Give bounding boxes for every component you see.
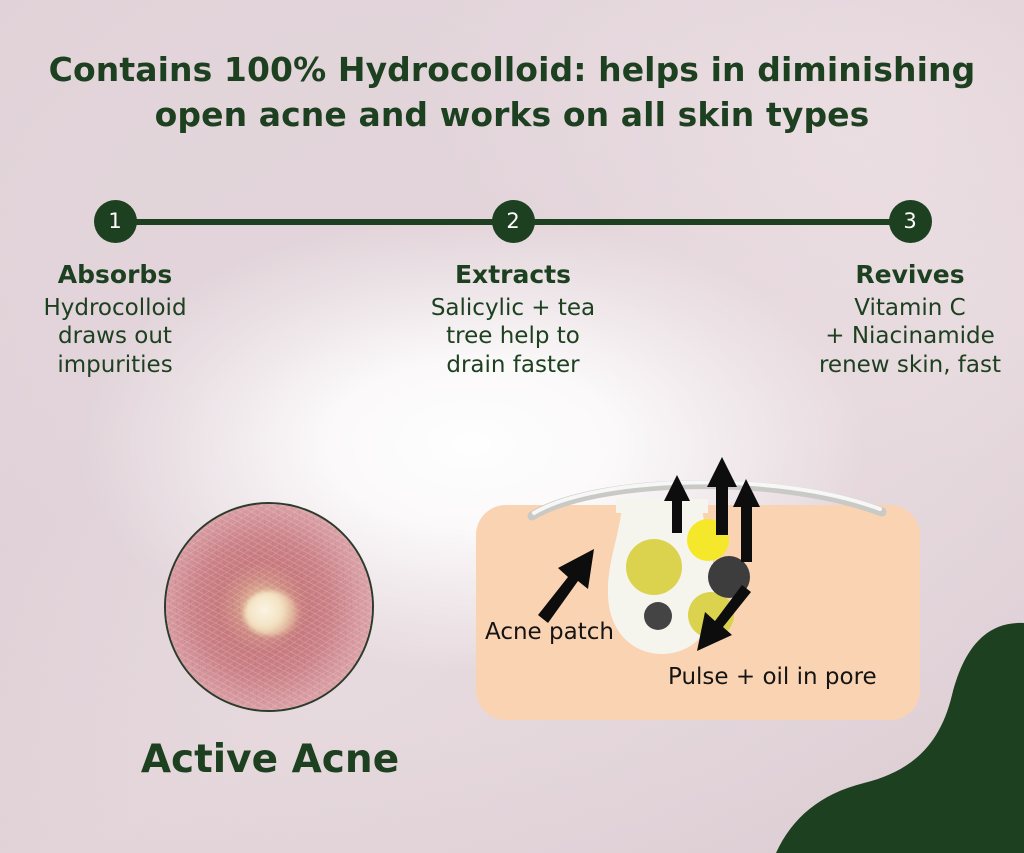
headline-line-1: Contains 100% Hydrocolloid: helps in dim…	[49, 50, 976, 89]
step-desc-line: Salicylic + tea	[398, 294, 628, 323]
step-desc-line: draws out	[0, 322, 230, 351]
step-number-badge-1: 1	[94, 200, 137, 243]
debris-small	[644, 602, 672, 630]
label-acne-patch: Acne patch	[485, 619, 614, 645]
step-desc-line: impurities	[0, 351, 230, 380]
step-title-1: Absorbs	[0, 261, 230, 289]
step-title-3: Revives	[795, 261, 1024, 289]
step-number-badge-2: 2	[492, 200, 535, 243]
step-description-2: Salicylic + tea tree help to drain faste…	[398, 294, 628, 380]
page-title: Contains 100% Hydrocolloid: helps in dim…	[0, 48, 1024, 138]
step-desc-line: renew skin, fast	[795, 351, 1024, 380]
step-description-1: Hydrocolloid draws out impurities	[0, 294, 230, 380]
acne-pustule-core	[244, 591, 298, 636]
active-acne-photo	[164, 502, 374, 712]
active-acne-caption: Active Acne	[60, 737, 480, 782]
step-desc-line: drain faster	[398, 351, 628, 380]
label-pulse-oil-in-pore: Pulse + oil in pore	[668, 664, 877, 690]
step-description-3: Vitamin C + Niacinamide renew skin, fast	[795, 294, 1024, 380]
step-desc-line: Hydrocolloid	[0, 294, 230, 323]
step-desc-line: tree help to	[398, 322, 628, 351]
headline-line-2: open acne and works on all skin types	[0, 93, 1024, 138]
step-title-2: Extracts	[398, 261, 628, 289]
step-desc-line: Vitamin C	[795, 294, 1024, 323]
step-item-1: 1 Absorbs Hydrocolloid draws out impurit…	[0, 200, 230, 380]
step-item-2: 2 Extracts Salicylic + tea tree help to …	[398, 200, 628, 380]
sebum-large	[626, 539, 682, 595]
step-desc-line: + Niacinamide	[795, 322, 1024, 351]
infographic-canvas: Contains 100% Hydrocolloid: helps in dim…	[0, 0, 1024, 853]
step-item-3: 3 Revives Vitamin C + Niacinamide renew …	[795, 200, 1024, 380]
step-number-badge-3: 3	[889, 200, 932, 243]
